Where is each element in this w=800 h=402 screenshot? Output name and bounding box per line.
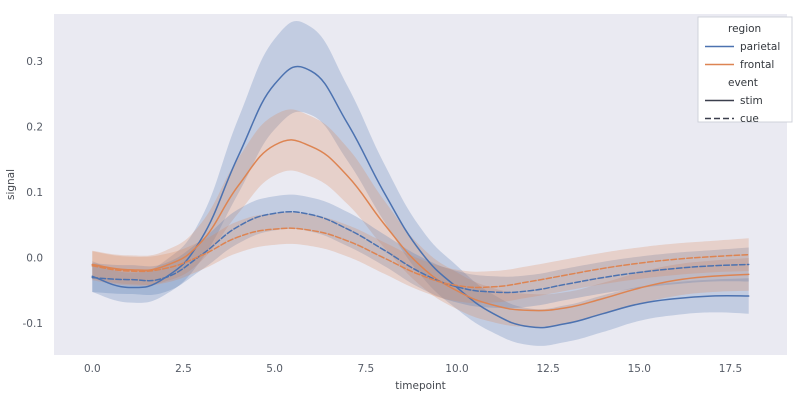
line-chart: 0.02.55.07.510.012.515.017.5-0.10.00.10.… [0,0,800,402]
x-tick-label: 17.5 [719,363,742,375]
legend-group-title: event [728,77,758,89]
y-tick-label: 0.0 [26,253,43,265]
legend-label-parietal: parietal [740,41,780,53]
legend-group-title: region [728,23,761,35]
legend: regionparietalfrontaleventstimcue [698,17,792,125]
figure-canvas: 0.02.55.07.510.012.515.017.5-0.10.00.10.… [0,0,800,402]
x-tick-label: 2.5 [175,363,192,375]
x-tick-label: 5.0 [266,363,283,375]
legend-label-stim: stim [740,95,763,107]
x-tick-label: 15.0 [628,363,651,375]
x-tick-label: 10.0 [445,363,468,375]
legend-label-cue: cue [740,113,759,125]
y-tick-label: 0.3 [26,56,43,68]
x-tick-label: 12.5 [536,363,559,375]
y-tick-label: -0.1 [23,318,44,330]
y-tick-label: 0.1 [26,187,43,199]
x-axis-title: timepoint [395,380,446,392]
y-tick-label: 0.2 [26,121,43,133]
legend-label-frontal: frontal [740,59,774,71]
x-tick-label: 7.5 [357,363,374,375]
y-axis-title: signal [5,169,17,200]
x-tick-label: 0.0 [84,363,101,375]
